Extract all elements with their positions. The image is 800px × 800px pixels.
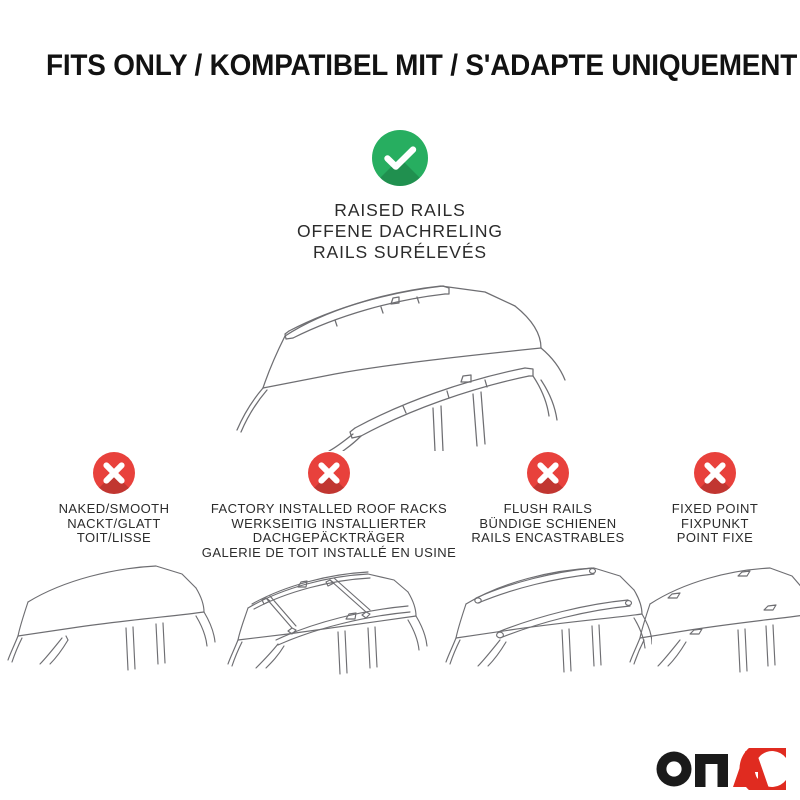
logo-letter-m	[695, 754, 728, 787]
check-circle-icon	[372, 130, 428, 186]
page-title: FITS ONLY / KOMPATIBEL MIT / S'ADAPTE UN…	[46, 48, 797, 84]
omac-logo: OMAC	[655, 748, 787, 790]
incompatible-item-flush-rails: FLUSH RAILS BÜNDIGE SCHIENEN RAILS ENCAS…	[448, 452, 648, 546]
incompatible-label-line: FLUSH RAILS	[448, 502, 648, 517]
incompatible-item-naked-smooth: NAKED/SMOOTH NACKT/GLATT TOIT/LISSE	[0, 452, 228, 546]
incompatible-label-line: DACHGEPÄCKTRÄGER	[198, 531, 460, 546]
incompatible-label-line: BÜNDIGE SCHIENEN	[448, 517, 648, 532]
compatible-section: RAISED RAILS OFFENE DACHRELING RAILS SUR…	[0, 130, 800, 263]
car-roof-factory-racks-illustration	[218, 562, 448, 697]
incompatible-label-line: WERKSEITIG INSTALLIERTER	[198, 517, 460, 532]
car-roof-naked-smooth-illustration	[6, 560, 216, 695]
incompatible-label-line: NACKT/GLATT	[0, 517, 228, 532]
x-circle-icon	[308, 452, 350, 494]
incompatible-label-group: FACTORY INSTALLED ROOF RACKS WERKSEITIG …	[198, 502, 460, 560]
x-mark-icon	[694, 452, 736, 494]
car-roof-raised-rails-illustration	[185, 276, 615, 451]
compatible-label-line: RAILS SURÉLEVÉS	[0, 242, 800, 263]
incompatible-label-group: FLUSH RAILS BÜNDIGE SCHIENEN RAILS ENCAS…	[448, 502, 648, 546]
incompatible-label-line: FIXPUNKT	[630, 517, 800, 532]
incompatible-label-line: FIXED POINT	[630, 502, 800, 517]
x-mark-icon	[93, 452, 135, 494]
incompatible-label-line: TOIT/LISSE	[0, 531, 228, 546]
incompatible-item-factory-racks: FACTORY INSTALLED ROOF RACKS WERKSEITIG …	[198, 452, 460, 560]
check-mark-icon	[372, 130, 428, 186]
incompatible-item-fixed-point: FIXED POINT FIXPUNKT POINT FIXE	[630, 452, 800, 546]
x-circle-icon	[93, 452, 135, 494]
incompatible-label-line: GALERIE DE TOIT INSTALLÉ EN USINE	[198, 546, 460, 561]
compatible-label-line: RAISED RAILS	[0, 200, 800, 221]
incompatible-label-group: FIXED POINT FIXPUNKT POINT FIXE	[630, 502, 800, 546]
logo-letter-o	[657, 752, 692, 787]
car-roof-fixed-point-illustration	[624, 560, 800, 695]
incompatible-label-line: FACTORY INSTALLED ROOF RACKS	[198, 502, 460, 517]
incompatible-label-line: RAILS ENCASTRABLES	[448, 531, 648, 546]
incompatible-label-line: POINT FIXE	[630, 531, 800, 546]
car-roof-flush-rails-illustration	[442, 560, 652, 695]
incompatible-label-group: NAKED/SMOOTH NACKT/GLATT TOIT/LISSE	[0, 502, 228, 546]
compatible-label-group: RAISED RAILS OFFENE DACHRELING RAILS SUR…	[0, 200, 800, 263]
incompatible-section: NAKED/SMOOTH NACKT/GLATT TOIT/LISSE	[0, 452, 800, 702]
header-bar: FITS ONLY / KOMPATIBEL MIT / S'ADAPTE UN…	[0, 48, 800, 94]
x-mark-icon	[527, 452, 569, 494]
x-mark-icon	[308, 452, 350, 494]
x-circle-icon	[694, 452, 736, 494]
incompatible-label-line: NAKED/SMOOTH	[0, 502, 228, 517]
compatible-label-line: OFFENE DACHRELING	[0, 221, 800, 242]
x-circle-icon	[527, 452, 569, 494]
